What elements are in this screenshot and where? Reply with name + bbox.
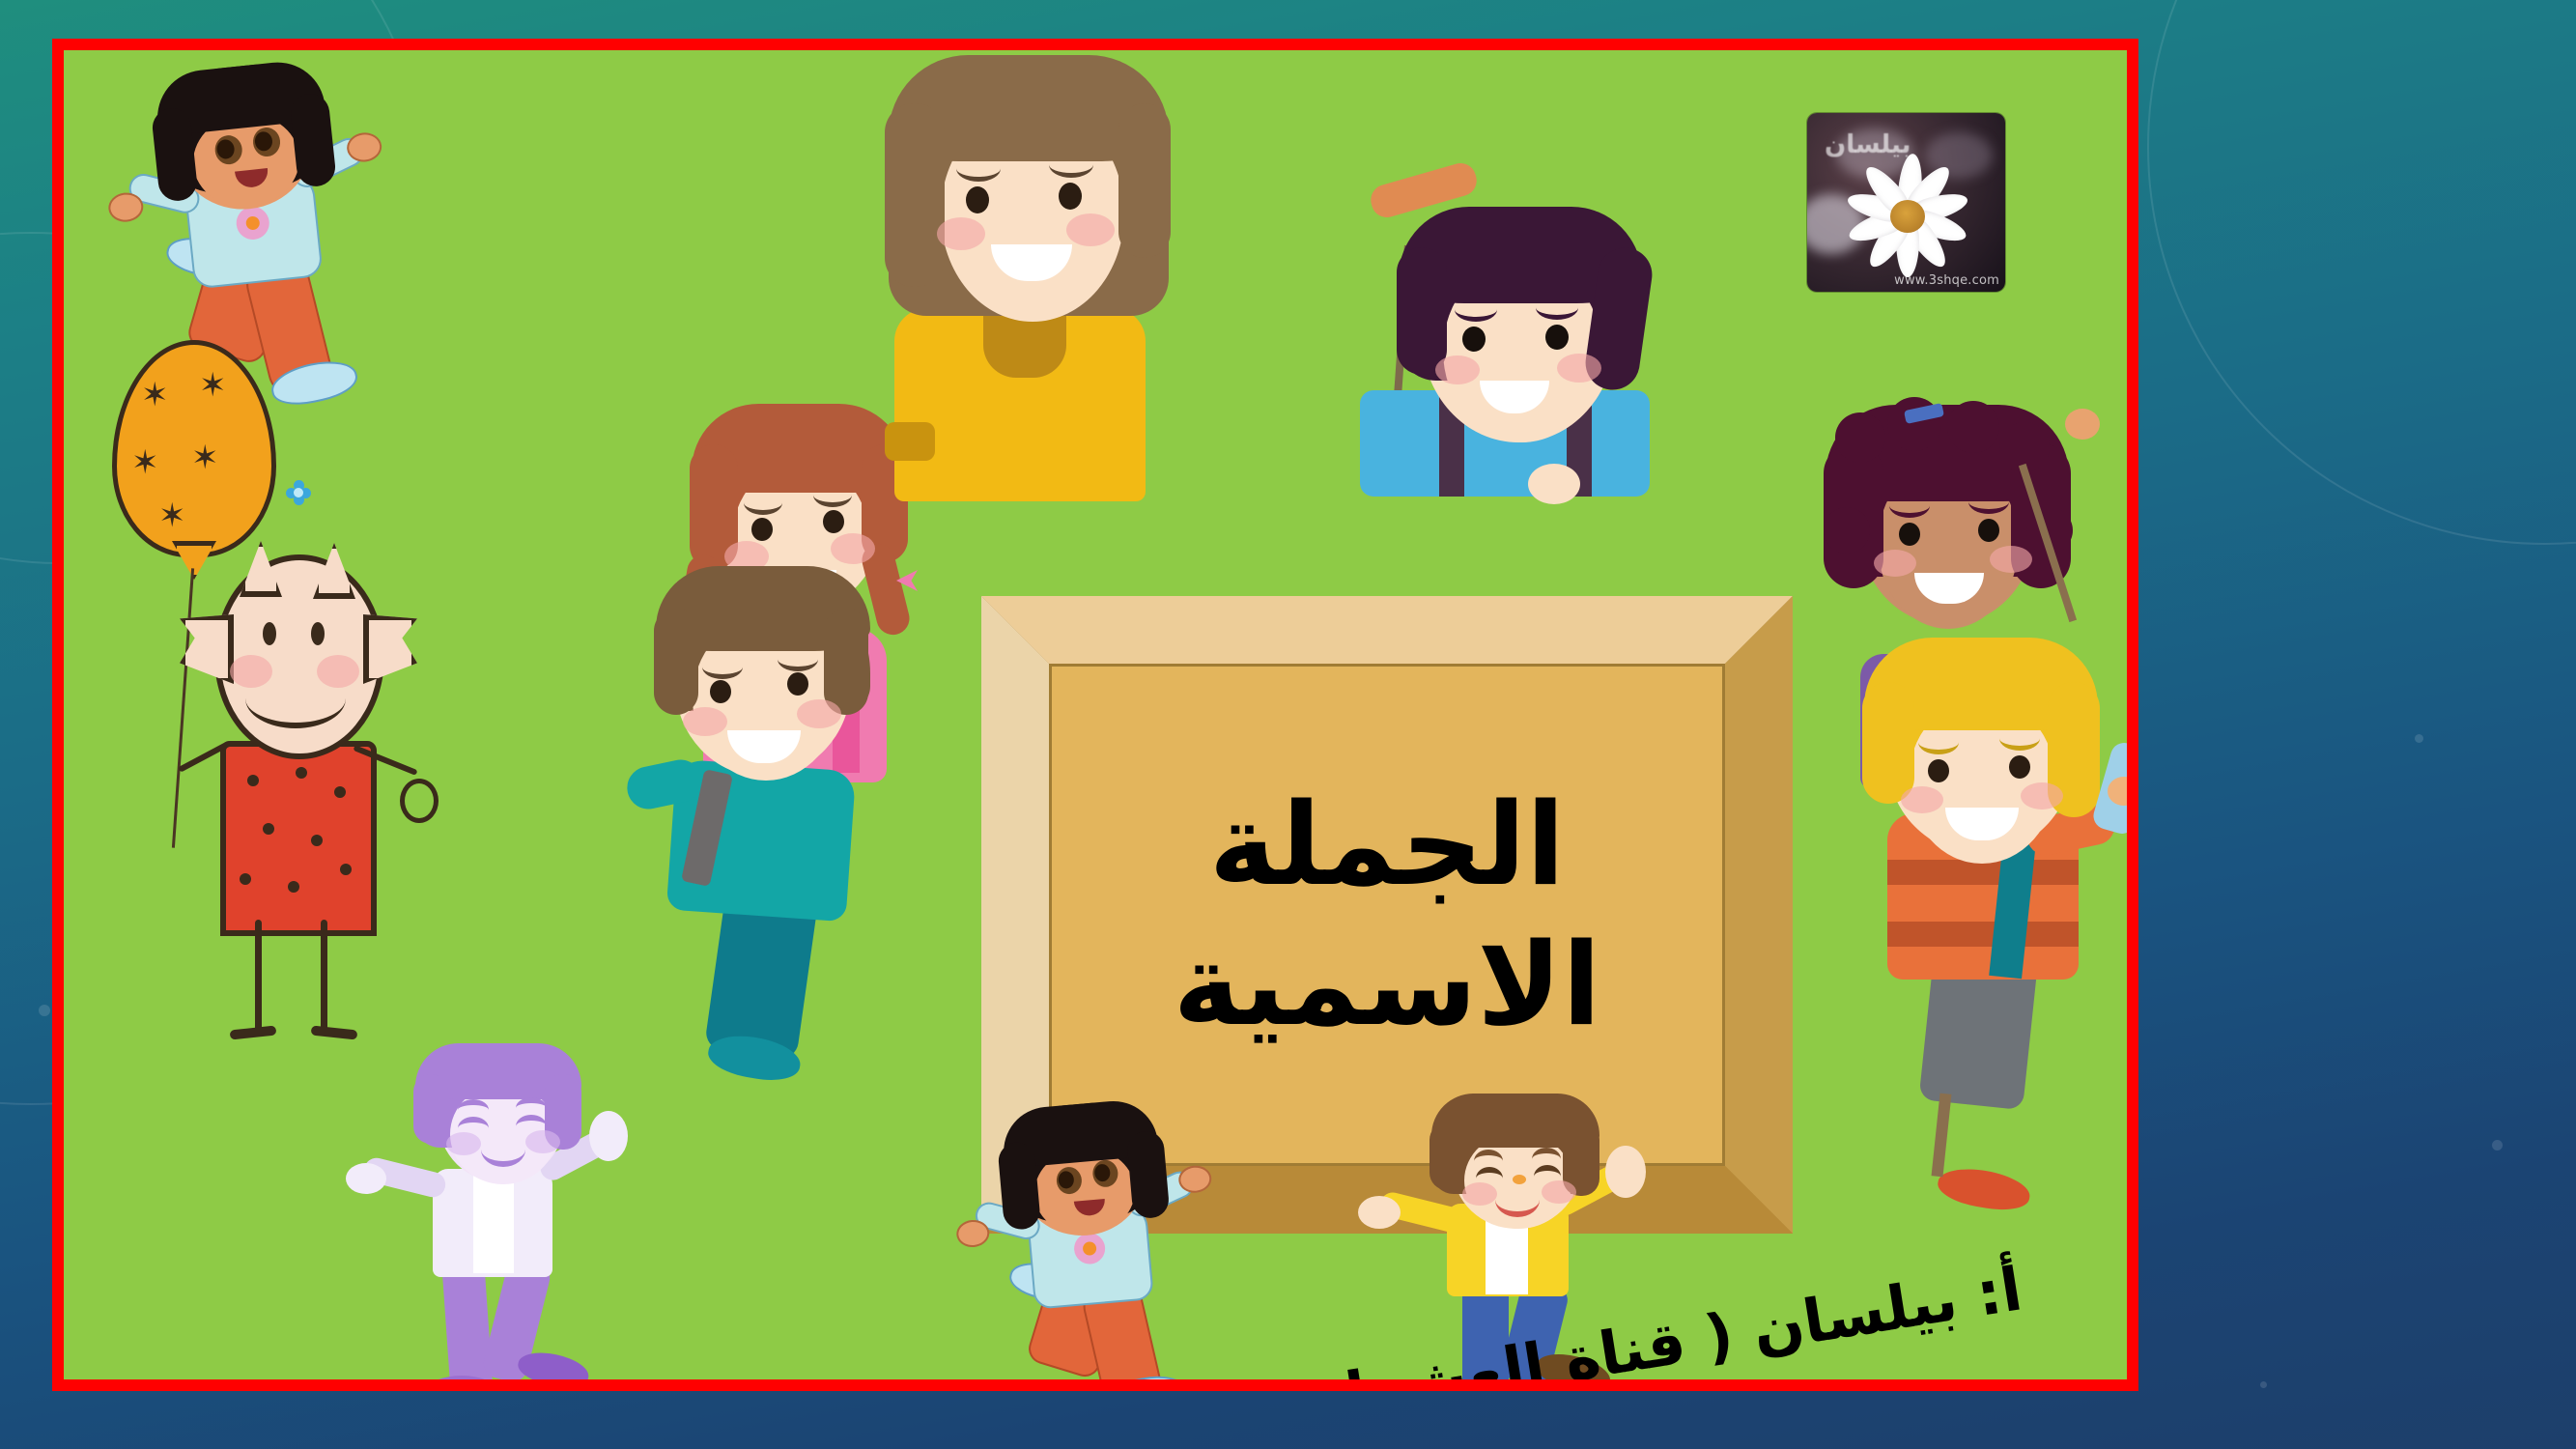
character-boy-dark-hair-backpack <box>1339 176 1677 504</box>
frame-panel: الجملة الاسمية <box>1049 664 1725 1166</box>
character-boy-teal-shirt <box>600 562 909 1103</box>
backdrop-dot <box>39 1005 50 1016</box>
backdrop-arc <box>2147 0 2576 545</box>
title-line-1: الجملة <box>1209 783 1566 906</box>
character-teacher-yellow-shirt <box>856 65 1223 499</box>
backdrop-dot <box>2260 1381 2267 1388</box>
decor-small-flower <box>286 480 311 505</box>
title-line-2: الاسمية <box>1173 923 1600 1046</box>
character-purple-boy <box>354 1036 634 1391</box>
channel-logo: بيلسان www.3shqe.com <box>1807 113 2005 292</box>
character-dora-bottom <box>973 1089 1241 1391</box>
character-doodle-girl-balloon <box>170 533 440 1074</box>
logo-url-text: www.3shqe.com <box>1894 273 1999 288</box>
backdrop-dot <box>2415 734 2423 743</box>
frame-bevel-top <box>981 596 1793 664</box>
presentation-slide: ✶ ✶ ✶ ✶ ✶ <box>52 39 2138 1391</box>
backdrop-dot <box>2492 1140 2503 1151</box>
logo-brand-text: بيلسان <box>1825 130 1911 159</box>
slide-backdrop: ✶ ✶ ✶ ✶ ✶ <box>0 0 2576 1449</box>
character-boy-orange-striped <box>1812 630 2138 1248</box>
